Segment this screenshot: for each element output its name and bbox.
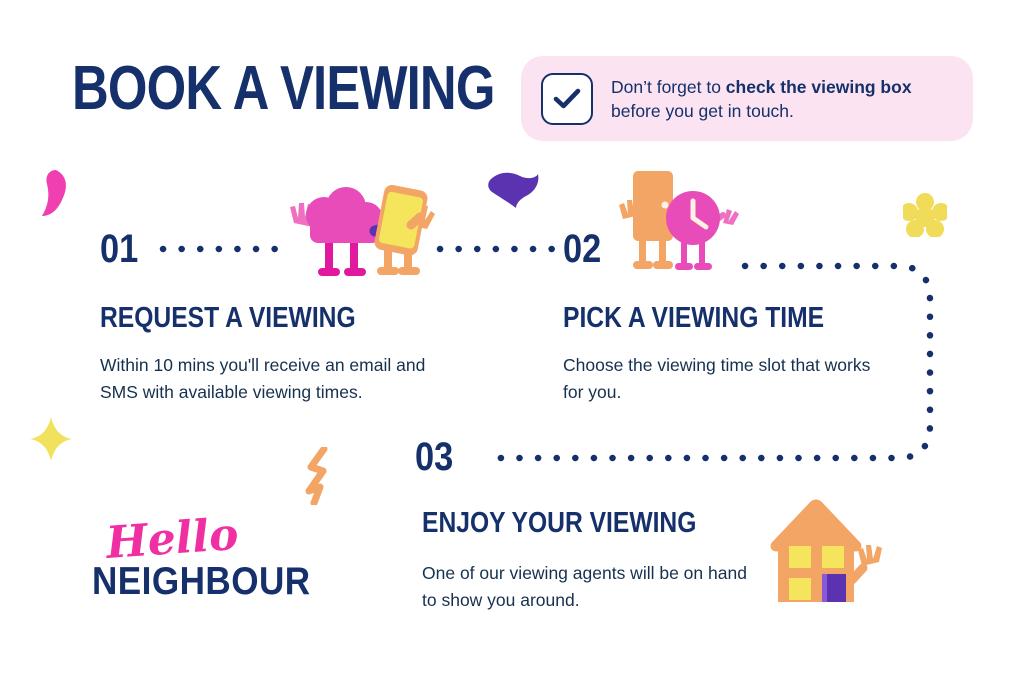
logo-neighbour-wordmark: NEIGHBOUR	[92, 562, 311, 602]
step-number-01: 01	[100, 229, 138, 269]
step-body-02: Choose the viewing time slot that works …	[563, 352, 893, 406]
infographic-canvas: BOOK A VIEWING Don’t forget to check the…	[0, 0, 1024, 683]
pink-swoosh-icon	[34, 166, 78, 224]
house-waving-icon	[770, 498, 886, 610]
yellow-sparkle-icon	[28, 415, 74, 463]
step-body-01: Within 10 mins you'll receive an email a…	[100, 352, 430, 406]
step-heading-01: REQUEST A VIEWING	[100, 303, 356, 333]
step-body-03: One of our viewing agents will be on han…	[422, 560, 752, 614]
step-heading-02: PICK A VIEWING TIME	[563, 303, 824, 333]
step-heading-03: ENJOY YOUR VIEWING	[422, 508, 696, 538]
yellow-flower-icon	[903, 193, 947, 237]
blob-character-with-phone-icon	[280, 185, 442, 277]
purple-arrow-icon	[486, 166, 542, 210]
orange-squiggle-icon	[303, 447, 337, 505]
step-number-03: 03	[415, 437, 453, 477]
door-and-clock-character-icon	[615, 165, 743, 277]
step-number-02: 02	[563, 229, 601, 269]
